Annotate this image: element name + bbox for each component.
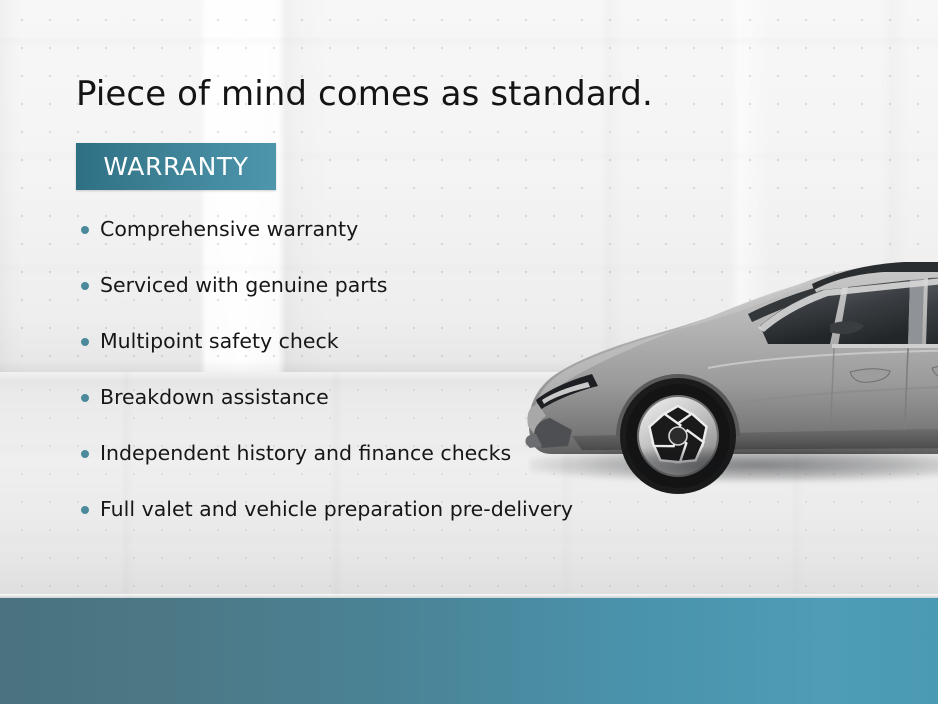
list-item: Multipoint safety check — [76, 326, 676, 382]
car-b-pillar — [908, 279, 924, 346]
bullet-dot-icon — [81, 338, 89, 346]
list-item-label: Breakdown assistance — [100, 384, 329, 410]
list-item-label: Comprehensive warranty — [100, 216, 358, 242]
bullet-dot-icon — [81, 394, 89, 402]
list-item-label: Multipoint safety check — [100, 328, 339, 354]
bullet-dot-icon — [81, 282, 89, 290]
car-rear-door-window — [926, 276, 938, 346]
footer-bar: AUTO BOLAND. — [0, 598, 938, 704]
feature-list: Comprehensive warranty Serviced with gen… — [76, 214, 676, 550]
slide-canvas: Piece of mind comes as standard. WARRANT… — [0, 0, 938, 704]
car-beltline-chrome — [832, 344, 938, 348]
list-item: Independent history and finance checks — [76, 438, 676, 494]
section-badge: WARRANTY — [76, 143, 276, 190]
section-badge-label: WARRANTY — [76, 143, 276, 190]
list-item: Comprehensive warranty — [76, 214, 676, 270]
list-item: Serviced with genuine parts — [76, 270, 676, 326]
bullet-dot-icon — [81, 226, 89, 234]
page-title: Piece of mind comes as standard. — [76, 74, 653, 114]
list-item: Full valet and vehicle preparation pre-d… — [76, 494, 676, 550]
bullet-dot-icon — [81, 506, 89, 514]
list-item: Breakdown assistance — [76, 382, 676, 438]
list-item-label: Independent history and finance checks — [100, 440, 511, 466]
list-item-label: Serviced with genuine parts — [100, 272, 387, 298]
bullet-dot-icon — [81, 450, 89, 458]
list-item-label: Full valet and vehicle preparation pre-d… — [100, 496, 573, 522]
